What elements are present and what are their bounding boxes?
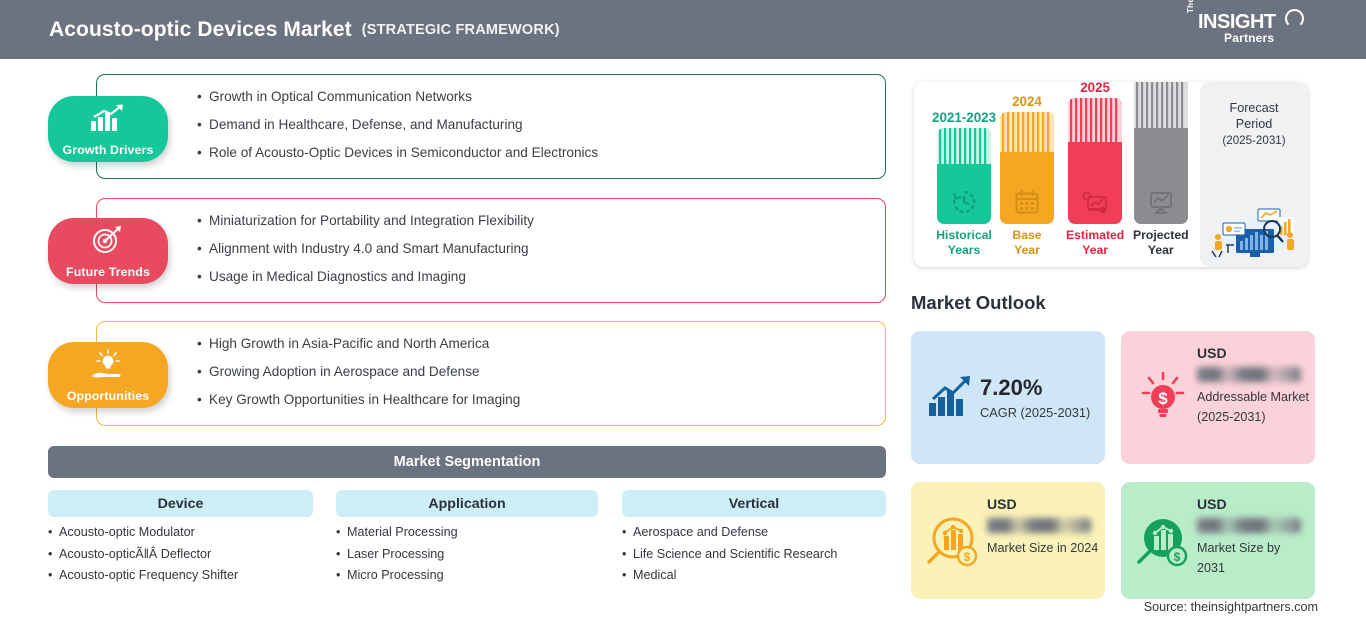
clock-history-icon: [951, 189, 977, 215]
segmentation-column-title: Vertical: [622, 490, 886, 517]
outlook-card-market-size-2024: $ USD Market Size in 2024: [911, 482, 1105, 599]
svg-text:$: $: [1158, 389, 1168, 408]
business-analytics-illustration: [1206, 201, 1302, 259]
source-attribution: Source: theinsightpartners.com: [1144, 600, 1318, 614]
list-item-label: Aerospace and Defense: [633, 525, 768, 539]
infographic-page: Acousto-optic Devices Market (STRATEGIC …: [0, 0, 1366, 635]
list-item: •High Growth in Asia-Pacific and North A…: [197, 337, 520, 351]
magnifier-bar-chart-dollar-icon: $: [1133, 514, 1191, 570]
market-segmentation-header: Market Segmentation: [48, 446, 886, 478]
list-item: •Acousto-optic Modulator: [48, 526, 313, 539]
chart-bar: [937, 128, 991, 224]
currency-label: USD: [1197, 496, 1227, 512]
outlook-card-addressable-market: $ USD Addressable Market (2025-2031): [1121, 331, 1315, 464]
bar-stripes: [1000, 112, 1054, 152]
bottom-spacer: [0, 629, 1366, 635]
page-subtitle: (STRATEGIC FRAMEWORK): [362, 22, 560, 38]
list-item-label: Material Processing: [347, 525, 458, 539]
list-item-label: Laser Processing: [347, 547, 444, 561]
segmentation-column-list: •Acousto-optic Modulator •Acousto-opticÃ…: [48, 526, 313, 582]
presentation-chart-icon: [1147, 189, 1175, 215]
growth-drivers-bullets: •Growth in Optical Communication Network…: [197, 90, 598, 160]
bullet-text: Alignment with Industry 4.0 and Smart Ma…: [209, 241, 529, 256]
bullet-text: Miniaturization for Portability and Inte…: [209, 213, 534, 228]
bar-caption: Projected Year: [1133, 228, 1189, 257]
forecast-line-2: Period: [1200, 116, 1308, 132]
bullet-text: Growing Adoption in Aerospace and Defens…: [209, 364, 480, 379]
list-item-label: Life Science and Scientific Research: [633, 547, 837, 561]
badge-label: Future Trends: [66, 265, 150, 279]
chart-bar: [1000, 112, 1054, 224]
future-trends-badge: Future Trends: [48, 218, 168, 284]
list-item: •Life Science and Scientific Research: [622, 548, 886, 561]
outlook-card-market-size-2031: $ USD Market Size by 2031: [1121, 482, 1315, 599]
bar-year-label: 2024: [1012, 94, 1042, 109]
insight-partners-logo: The INSIGHT Partners: [1186, 9, 1306, 51]
bullet-text: High Growth in Asia-Pacific and North Am…: [209, 336, 489, 351]
list-item: •Acousto-optic Frequency Shifter: [48, 569, 313, 582]
list-item-label: Acousto-opticÃ‖Â Deflector: [59, 547, 211, 561]
segmentation-column-list: •Aerospace and Defense •Life Science and…: [622, 526, 886, 582]
outlook-card-label: Addressable Market (2025-2031): [1197, 387, 1309, 428]
logo-the-text: The: [1186, 0, 1195, 13]
list-item-label: Acousto-optic Modulator: [59, 525, 195, 539]
outlook-card-cagr: 7.20% CAGR (2025-2031): [911, 331, 1105, 464]
list-item: •Aerospace and Defense: [622, 526, 886, 539]
market-outlook-title: Market Outlook: [911, 292, 1046, 314]
list-item-label: Acousto-optic Frequency Shifter: [59, 568, 238, 582]
svg-text:$: $: [964, 550, 971, 564]
list-item: •Micro Processing: [336, 569, 598, 582]
forecast-period-text: Forecast Period (2025-2031): [1200, 100, 1308, 148]
segmentation-column-device: Device •Acousto-optic Modulator •Acousto…: [48, 490, 313, 591]
forecast-line-3: (2025-2031): [1200, 133, 1308, 148]
list-item: •Acousto-opticÃ‖Â Deflector: [48, 548, 313, 561]
chart-bar-group-projected: 2031: [1133, 82, 1189, 257]
list-item: •Role of Acousto-Optic Devices in Semico…: [197, 146, 598, 160]
magnifier-bar-chart-dollar-icon: $: [923, 514, 981, 570]
outlook-card-label: Market Size by 2031: [1197, 538, 1309, 579]
list-item: •Alignment with Industry 4.0 and Smart M…: [197, 242, 534, 256]
bar-year-label: 2021-2023: [932, 110, 996, 125]
cagr-value: 7.20%: [980, 375, 1042, 401]
chart-bar-group-historical: 2021-2023 His: [932, 110, 996, 257]
segmentation-column-application: Application •Material Processing •Laser …: [336, 490, 598, 591]
list-item: •Laser Processing: [336, 548, 598, 561]
list-item: •Growth in Optical Communication Network…: [197, 90, 598, 104]
segmentation-column-title: Application: [336, 490, 598, 517]
currency-label: USD: [987, 496, 1017, 512]
list-item: •Growing Adoption in Aerospace and Defen…: [197, 365, 520, 379]
logo-ring-icon: [1285, 9, 1304, 28]
growth-bar-chart-arrow-icon: [88, 103, 128, 138]
study-period-chart: 2021-2023 His: [914, 82, 1308, 267]
page-header: Acousto-optic Devices Market (STRATEGIC …: [0, 0, 1366, 59]
bullet-text: Demand in Healthcare, Defense, and Manuf…: [209, 117, 523, 132]
chart-bar: [1068, 98, 1122, 224]
blurred-value: [1197, 367, 1301, 382]
list-item: •Key Growth Opportunities in Healthcare …: [197, 393, 520, 407]
svg-text:$: $: [1174, 550, 1181, 564]
list-item: •Usage in Medical Diagnostics and Imagin…: [197, 270, 534, 284]
opportunities-badge: Opportunities: [48, 342, 168, 408]
target-dartboard-icon: [90, 225, 126, 260]
chart-bar-group-estimated: 2025: [1066, 82, 1124, 257]
bar-stripes: [1068, 98, 1122, 142]
bar-year-label: 2025: [1080, 82, 1110, 95]
bar-stripes: [937, 128, 991, 164]
bullet-text: Key Growth Opportunities in Healthcare f…: [209, 392, 520, 407]
bullet-text: Growth in Optical Communication Networks: [209, 89, 472, 104]
list-item: •Demand in Healthcare, Defense, and Manu…: [197, 118, 598, 132]
bar-caption: Historical Years: [936, 228, 992, 257]
chart-bar: [1134, 82, 1188, 224]
bar-stripes: [1134, 82, 1188, 128]
bullet-text: Role of Acousto-Optic Devices in Semicon…: [209, 145, 598, 160]
chart-bar-group-base: 2024: [1000, 94, 1054, 257]
growth-drivers-panel: •Growth in Optical Communication Network…: [96, 74, 886, 179]
list-item: •Material Processing: [336, 526, 598, 539]
segmentation-column-title: Device: [48, 490, 313, 517]
list-item: •Medical: [622, 569, 886, 582]
currency-label: USD: [1197, 345, 1227, 361]
list-item-label: Medical: [633, 568, 676, 582]
forecast-period-box: Forecast Period (2025-2031): [1200, 82, 1308, 267]
calendar-icon: [1014, 189, 1040, 215]
outlook-card-label: Market Size in 2024: [987, 538, 1099, 558]
page-title: Acousto-optic Devices Market: [49, 18, 352, 42]
logo-partners-text: Partners: [1224, 31, 1274, 45]
hand-lightbulb-icon: [88, 349, 128, 386]
segmentation-column-vertical: Vertical •Aerospace and Defense •Life Sc…: [622, 490, 886, 591]
future-trends-bullets: •Miniaturization for Portability and Int…: [197, 214, 534, 284]
growth-drivers-badge: Growth Drivers: [48, 96, 168, 162]
badge-label: Opportunities: [67, 389, 150, 403]
opportunities-panel: •High Growth in Asia-Pacific and North A…: [96, 321, 886, 426]
opportunities-bullets: •High Growth in Asia-Pacific and North A…: [197, 337, 520, 407]
cagr-label: CAGR (2025-2031): [980, 405, 1090, 420]
future-trends-panel: •Miniaturization for Portability and Int…: [96, 198, 886, 303]
blurred-value: [1197, 518, 1301, 533]
forecast-line-1: Forecast: [1200, 100, 1308, 116]
badge-label: Growth Drivers: [63, 143, 154, 157]
bar-caption: Estimated Year: [1066, 228, 1124, 257]
blurred-value: [987, 518, 1091, 533]
bar-caption: Base Year: [1012, 228, 1041, 257]
analytics-gear-icon: [1081, 189, 1109, 215]
lightbulb-dollar-icon: $: [1137, 371, 1189, 423]
bullet-text: Usage in Medical Diagnostics and Imaging: [209, 269, 466, 284]
list-item: •Miniaturization for Portability and Int…: [197, 214, 534, 228]
segmentation-column-list: •Material Processing •Laser Processing •…: [336, 526, 598, 582]
list-item-label: Micro Processing: [347, 568, 444, 582]
bar-chart-growth-icon: [927, 375, 975, 419]
